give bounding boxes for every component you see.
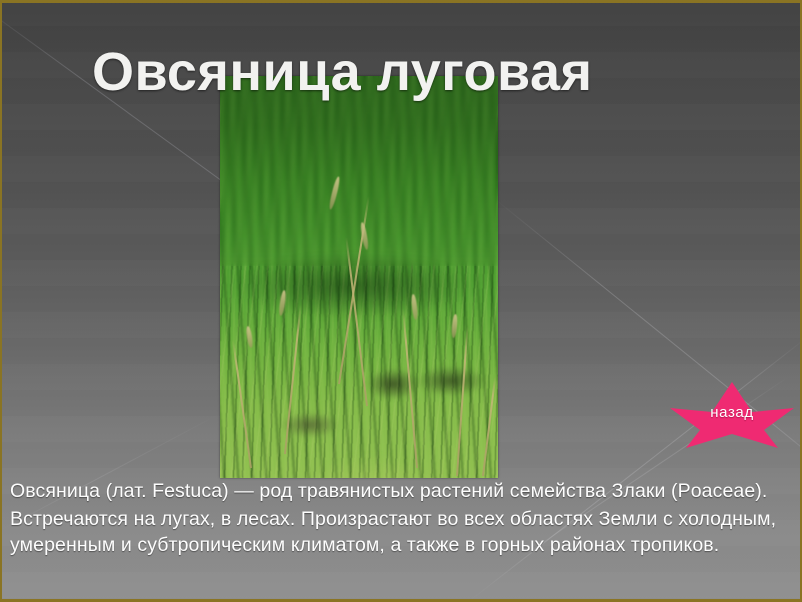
description-paragraph-2: Встречаются на лугах, в лесах. Произраст… [10,506,790,559]
photo-shadow-spot-3 [416,366,486,396]
page-title: Овсяница луговая [92,42,593,102]
back-button[interactable]: назад [668,378,796,450]
presentation-slide: Овсяница луговая назад Овсяница (лат [0,0,802,602]
slide-border-left [0,0,2,602]
decorative-diagonal-line-3 [470,335,802,601]
slide-border-top [0,0,802,3]
star-shape-icon [668,378,796,450]
description-paragraph-1: Овсяница (лат. Festuca) — род травянисты… [10,478,790,505]
description-text: Овсяница (лат. Festuca) — род травянисты… [10,478,790,559]
grass-meadow-photo [220,76,498,478]
photo-highlight-patch [296,456,446,478]
photo-shadow-spot-1 [366,368,420,400]
photo-depth-blur [220,76,498,266]
